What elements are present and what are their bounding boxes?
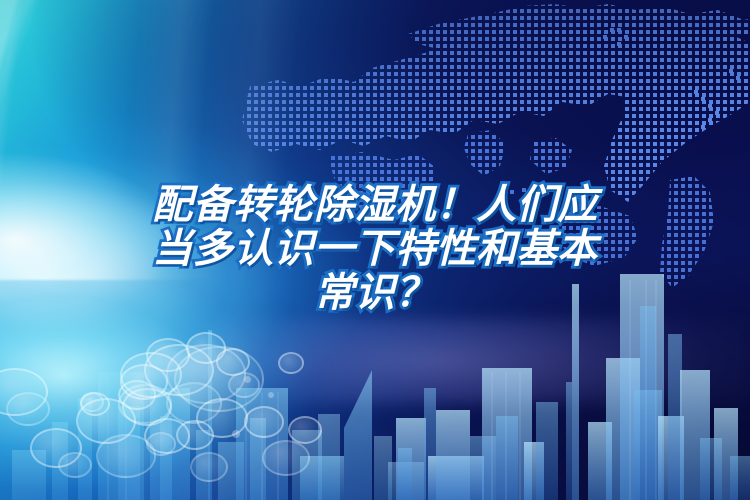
banner-image: 配备转轮除湿机！人们应 当多认识一下特性和基本 常识？: [0, 0, 750, 500]
vignette-overlay: [0, 0, 750, 500]
